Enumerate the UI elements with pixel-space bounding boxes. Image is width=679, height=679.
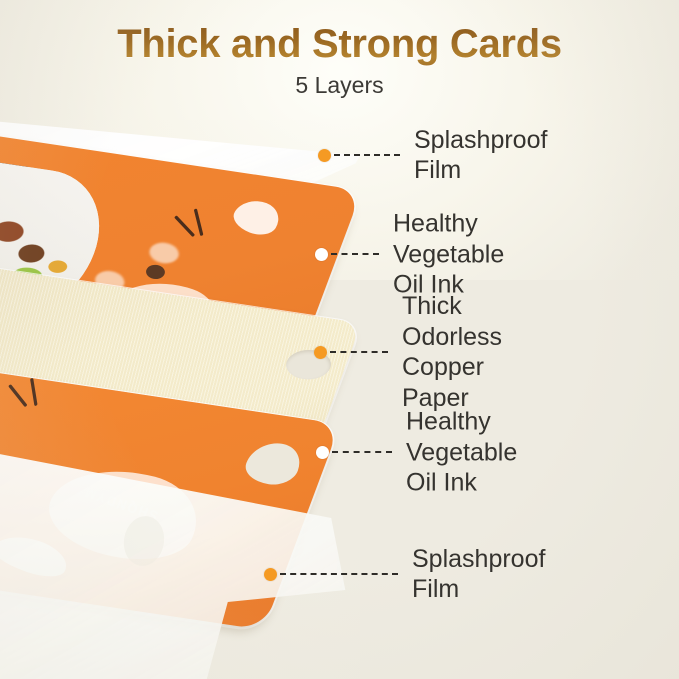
cat-eye-right [143,263,168,282]
copper-paper-notch [281,347,335,382]
callout-dot-white [316,446,329,459]
callout-leader-line [280,573,398,575]
cat-whisker [194,208,204,236]
callout-dot-white [315,248,328,261]
cat-whisker [8,384,27,407]
cat-heart-shape [240,440,306,488]
cat-whisker [30,378,38,406]
film-notch [120,513,168,569]
page-subtitle: 5 Layers [0,72,679,99]
callout-leader-line [334,154,400,156]
callout-label: Thick Odorless Copper Paper [402,291,502,413]
infographic-poster: Thick and Strong Cards 5 Layers SHQNDYM [0,0,679,679]
page-title: Thick and Strong Cards [0,22,679,67]
callout-dot-orange [314,346,327,359]
card-layer-stack: SHQNDYM SHQNDYM [0,100,420,660]
callout-label: Splashproof Film [414,125,547,185]
callout-label: Splashproof Film [412,544,545,604]
callout-dot-orange [318,149,331,162]
cat-ear-shape [227,195,286,240]
cat-whisker [174,215,195,237]
callout-leader-line [331,253,379,255]
callout-dot-orange [264,568,277,581]
callout-leader-line [330,351,388,353]
callout-label: Healthy Vegetable Oil Ink [393,208,504,300]
callout-leader-line [332,451,392,453]
callout-label: Healthy Vegetable Oil Ink [406,406,517,498]
cat-eye-highlight-right [145,239,183,267]
